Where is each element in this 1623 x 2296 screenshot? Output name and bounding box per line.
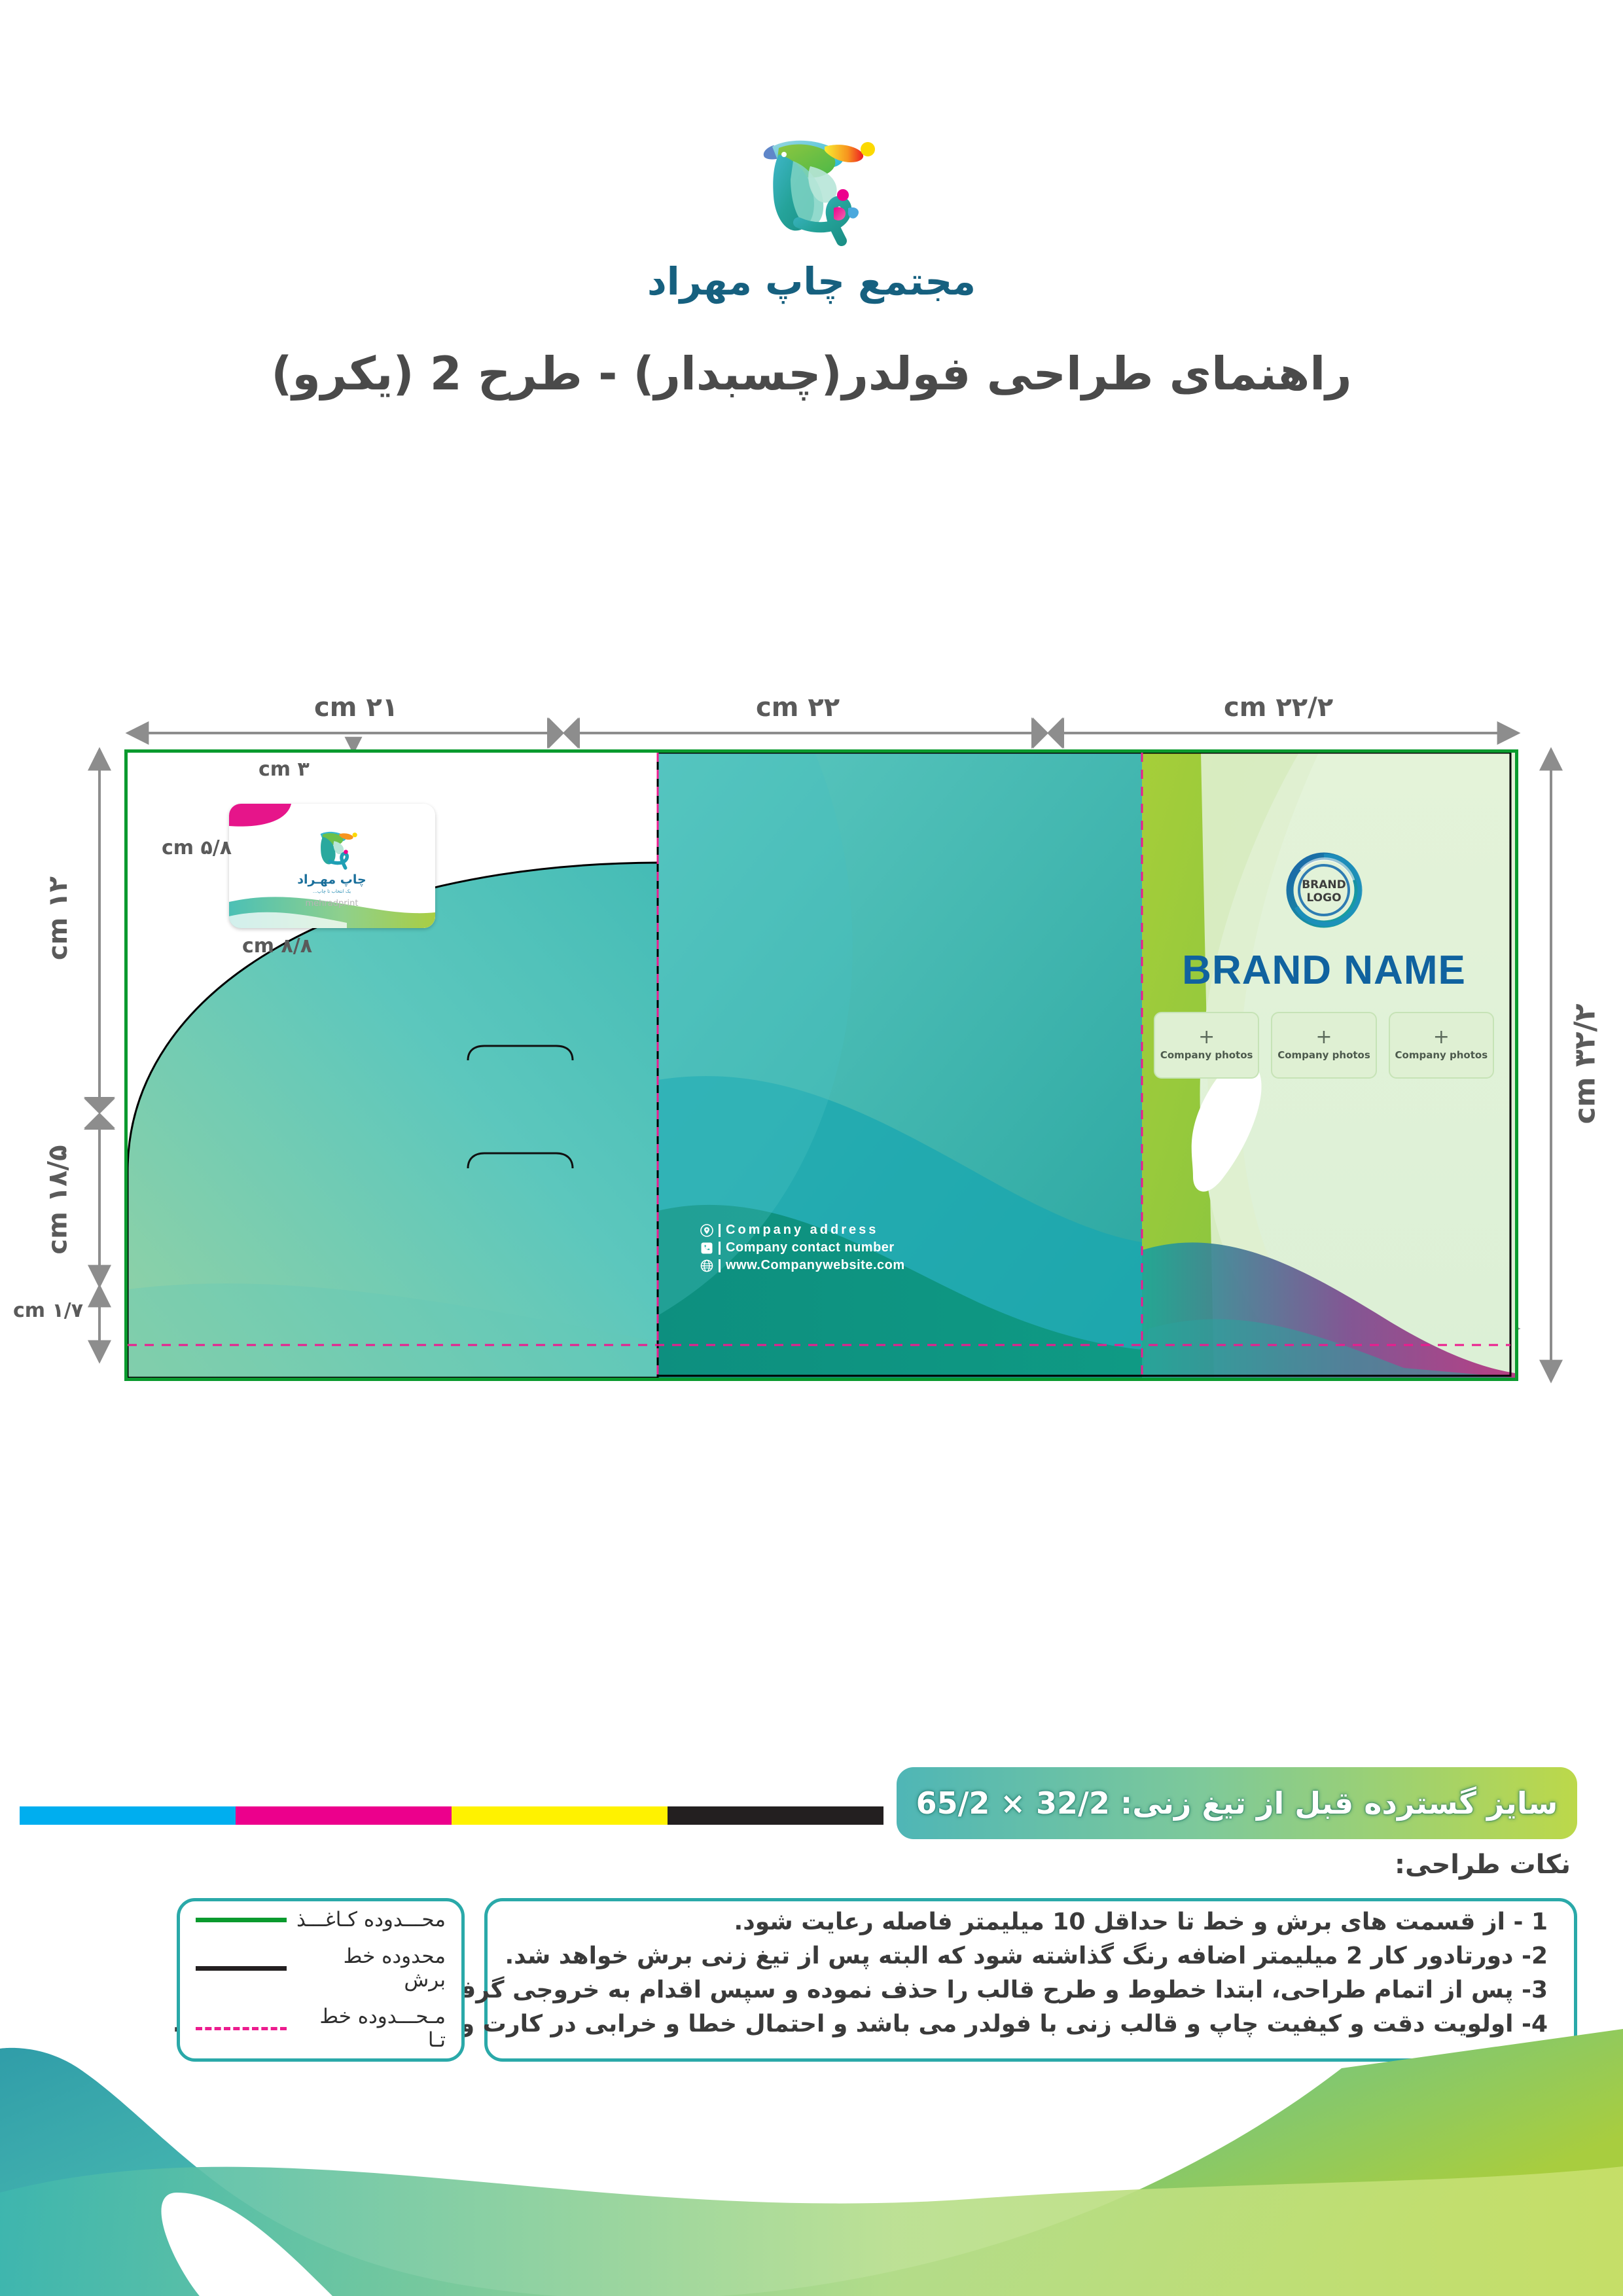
paper-boundary: چاپ مهـراد یک انتخاب تا چاپ… mehradprint…	[124, 749, 1518, 1381]
dimension-label-left-1: ۱۲ cm	[43, 876, 73, 960]
cmyk-color-bar	[20, 1806, 883, 1825]
company-photo-box[interactable]: + Company photos	[1389, 1012, 1494, 1079]
dimension-label-top-2: ۲۲ cm	[756, 692, 840, 723]
card-brand-line: چاپ مهـراد	[297, 872, 366, 887]
dimension-label-left-3: ۱/۷ cm	[13, 1299, 83, 1322]
brand-logo-line2: LOGO	[1306, 891, 1341, 905]
card-latin: mehradprint	[305, 899, 358, 908]
notes-title: نکات طراحی:	[1395, 1850, 1571, 1880]
card-width-label: ۸/۸ cm	[242, 935, 312, 958]
phone-icon	[700, 1242, 713, 1255]
contact-block: Company address Company contact number	[700, 1223, 905, 1273]
cmyk-swatch-yellow	[452, 1806, 668, 1825]
plus-icon: +	[1315, 1030, 1332, 1045]
design-note: 1 - از قسمت های برش و خط تا حداقل 10 میل…	[514, 1910, 1548, 1934]
footer-decoration	[0, 2029, 1623, 2296]
plus-icon: +	[1433, 1030, 1450, 1045]
company-photo-label: Company photos	[1395, 1049, 1488, 1061]
cmyk-swatch-black	[668, 1806, 883, 1825]
dimension-label-left-2: ۱۸/۵ cm	[43, 1145, 73, 1254]
cmyk-swatch-cyan	[20, 1806, 236, 1825]
brand-logo-icon: BRAND LOGO	[1281, 848, 1366, 933]
design-note: 3- پس از اتمام طراحی، ابتدا خطوط و طرح ق…	[514, 1979, 1548, 2002]
legend-swatch-paper	[196, 1918, 287, 1922]
folder-dieline-diagram: ۲۱ cm ۲۲ cm ۲۲/۲ cm ۶۵/۲ cm ۱۲ cm ۱۸/۵ c…	[0, 668, 1623, 1505]
page-title: راهنمای طراحی فولدر(چسبدار) - طرح 2 (یکر…	[0, 347, 1623, 401]
legend-row-paper: محـــدوده کـاغـــذ	[196, 1908, 446, 1931]
divider	[719, 1224, 721, 1237]
brand-wordmark: مجتمع چاپ مهراد	[0, 259, 1623, 304]
contact-website: www.Companywebsite.com	[726, 1258, 905, 1273]
company-photo-box[interactable]: + Company photos	[1271, 1012, 1376, 1079]
design-note: 2- دورتادور کار 2 میلیمتر اضافه رنگ گذاش…	[514, 1945, 1548, 1968]
dimension-label-right: ۳۲/۲ cm	[1568, 1004, 1601, 1124]
cover-content: BRAND LOGO BRAND NAME + Company photos +…	[1154, 848, 1494, 1079]
company-photo-label: Company photos	[1160, 1049, 1253, 1061]
contact-phone: Company contact number	[726, 1240, 895, 1255]
size-badge: سایز گسترده قبل از تیغ زنی: 32/2 × 65/2	[897, 1767, 1577, 1839]
brand-logo-line1: BRAND	[1302, 878, 1346, 891]
dimension-label-top-1: ۲۱ cm	[314, 692, 398, 723]
company-photo-label: Company photos	[1277, 1049, 1370, 1061]
card-tagline: یک انتخاب تا چاپ…	[313, 889, 351, 894]
divider	[719, 1259, 721, 1272]
globe-icon	[700, 1259, 713, 1272]
company-photo-boxes: + Company photos + Company photos + Comp…	[1154, 1012, 1494, 1079]
business-card-mockup: چاپ مهـراد یک انتخاب تا چاپ… mehradprint	[229, 804, 435, 928]
contact-address: Company address	[726, 1223, 878, 1238]
legend-row-cut: محدوده خط برش	[196, 1945, 446, 1992]
dimension-label-top-3: ۲۲/۲ cm	[1224, 692, 1333, 723]
divider	[719, 1242, 721, 1255]
brand-logo-block: مجتمع چاپ مهراد	[0, 124, 1623, 304]
card-height-label: ۵/۸ cm	[162, 836, 232, 859]
company-photo-box[interactable]: + Company photos	[1154, 1012, 1259, 1079]
legend-label-paper: محـــدوده کـاغـــذ	[296, 1908, 446, 1931]
plus-icon: +	[1198, 1030, 1215, 1045]
location-pin-icon	[700, 1224, 713, 1237]
legend-label-cut: محدوده خط برش	[296, 1945, 446, 1992]
legend-swatch-cut	[196, 1966, 287, 1971]
brand-name: BRAND NAME	[1154, 947, 1494, 994]
cmyk-swatch-magenta	[236, 1806, 452, 1825]
hummingbird-logo-icon	[733, 124, 890, 255]
card-top-offset-label: ۳ cm	[259, 758, 310, 781]
